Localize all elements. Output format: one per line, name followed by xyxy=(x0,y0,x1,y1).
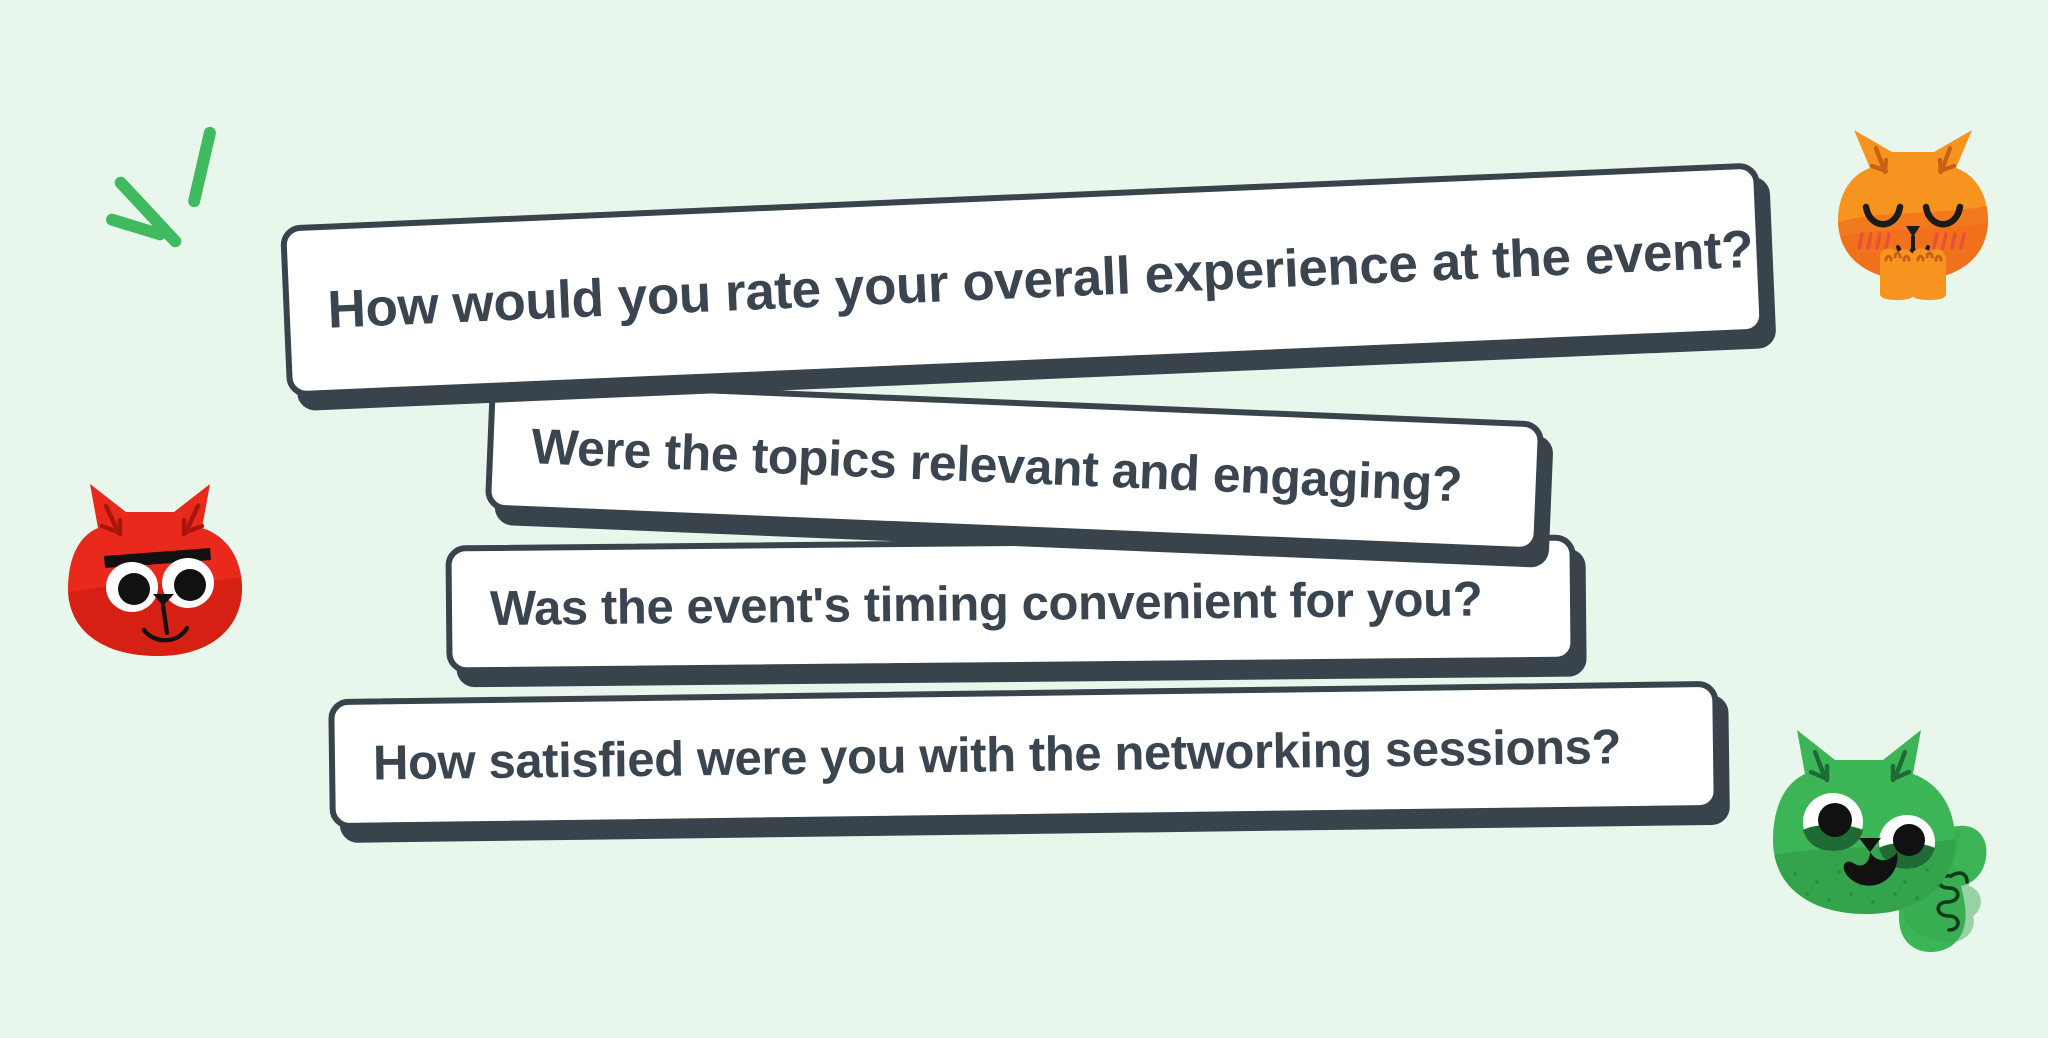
sparkle-line-2 xyxy=(112,174,184,249)
orange-cat-icon xyxy=(1818,108,2008,298)
orange-cat-paws xyxy=(1880,249,1946,300)
question-card[interactable]: How satisfied were you with the networki… xyxy=(328,681,1720,829)
card-face[interactable]: How satisfied were you with the networki… xyxy=(328,681,1720,829)
question-card[interactable]: How would you rate your overall experien… xyxy=(280,162,1766,397)
question-text: Were the topics relevant and engaging? xyxy=(492,416,1463,514)
green-cat-icon xyxy=(1755,718,2015,958)
question-card[interactable]: Were the topics relevant and engaging? xyxy=(485,378,1545,553)
card-face[interactable]: How would you rate your overall experien… xyxy=(280,162,1766,397)
question-text: Was the event's timing convenient for yo… xyxy=(452,571,1483,637)
question-text: How would you rate your overall experien… xyxy=(288,218,1754,342)
red-cat-icon xyxy=(50,470,275,670)
sparkle-line-1 xyxy=(187,126,217,209)
question-text: How satisfied were you with the networki… xyxy=(335,719,1622,792)
survey-questions-canvas: How would you rate your overall experien… xyxy=(0,0,2048,1038)
